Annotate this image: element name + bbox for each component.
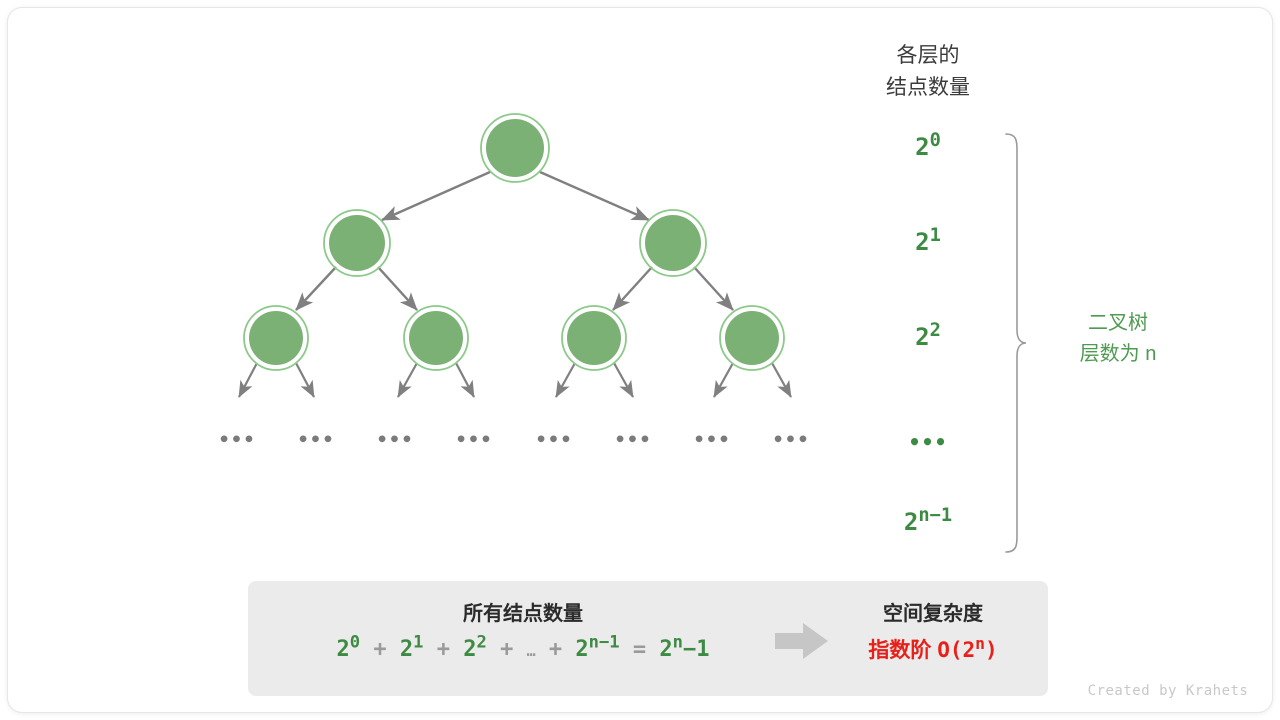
level-count-2-base: 2 — [915, 323, 929, 351]
column-heading: 各层的 结点数量 — [838, 40, 1018, 104]
side-note-line1: 二叉树 — [1028, 308, 1208, 339]
leaf-ellipsis: ••• — [444, 429, 504, 451]
level-count-1-exponent: 1 — [930, 225, 941, 246]
leaf-ellipsis: ••• — [682, 429, 742, 451]
level-count-2-exponent: 2 — [930, 320, 941, 341]
formula-result-tail: −1 — [683, 637, 710, 662]
leaf-ellipsis: ••• — [286, 429, 346, 451]
level-count-1-base: 2 — [915, 228, 929, 256]
formula-term-3-exponent: n−1 — [589, 633, 620, 653]
formula-term-1-base: 2 — [400, 637, 413, 662]
tree-node-l1-left — [324, 210, 390, 276]
formula-equals: = — [633, 637, 646, 662]
leaf-ellipsis: ••• — [603, 429, 663, 451]
tree-node-l2-3 — [562, 306, 626, 370]
flow-arrow-icon — [773, 620, 831, 662]
formula-term-0-base: 2 — [337, 637, 350, 662]
tree-dangling-edges — [239, 363, 791, 397]
leaf-ellipsis: ••• — [524, 429, 584, 451]
total-nodes-title: 所有结点数量 — [263, 599, 783, 629]
level-count-last-base: 2 — [904, 508, 918, 536]
space-complexity-title: 空间复杂度 — [838, 599, 1028, 629]
formula-term-1-exponent: 1 — [413, 633, 423, 653]
complexity-big-o: O(2 — [937, 638, 975, 662]
formula-term-3-base: 2 — [575, 637, 588, 662]
formula-result-exponent: n — [673, 633, 683, 653]
space-complexity-value: 指数阶 O(2n) — [838, 636, 1028, 665]
total-nodes-formula: 20 + 21 + 22 + … + 2n−1 = 2n−1 — [263, 636, 783, 665]
formula-operator-3: + — [500, 637, 513, 662]
formula-result-base: 2 — [659, 637, 672, 662]
complexity-exponent: n — [975, 634, 985, 653]
figure-card: ••• ••• ••• ••• ••• ••• ••• ••• 各层的 结点数量… — [8, 8, 1272, 712]
formula-operator-2: + — [437, 637, 450, 662]
credit-footer: Created by Krahets — [1078, 683, 1258, 699]
formula-operator-1: + — [373, 637, 386, 662]
column-heading-line2: 结点数量 — [838, 72, 1018, 104]
formula-term-2-base: 2 — [463, 637, 476, 662]
summary-panel-right: 空间复杂度 指数阶 O(2n) — [838, 599, 1028, 665]
formula-term-0-exponent: 0 — [350, 633, 360, 653]
level-count-ellipsis: ••• — [828, 430, 1028, 454]
tree-node-l2-4 — [720, 306, 784, 370]
formula-term-2-exponent: 2 — [476, 633, 486, 653]
column-heading-line1: 各层的 — [838, 40, 1018, 72]
level-count-1: 21 — [828, 228, 1028, 256]
tree-node-l2-2 — [404, 306, 468, 370]
level-count-last: 2n−1 — [828, 508, 1028, 536]
level-count-last-exponent: n−1 — [918, 505, 952, 526]
formula-operator-4: + — [549, 637, 562, 662]
complexity-order-label: 指数阶 — [868, 639, 931, 662]
level-count-0-exponent: 0 — [930, 130, 941, 151]
summary-panel-left: 所有结点数量 20 + 21 + 22 + … + 2n−1 = 2n−1 — [263, 599, 783, 665]
leaf-ellipsis: ••• — [365, 429, 425, 451]
leaf-ellipsis: ••• — [761, 429, 821, 451]
complexity-close-paren: ) — [985, 638, 998, 662]
tree-nodes — [244, 114, 784, 370]
side-note-line2: 层数为 n — [1028, 339, 1208, 370]
tree-node-root — [481, 114, 549, 182]
level-count-0-base: 2 — [915, 133, 929, 161]
tree-node-l1-right — [640, 210, 706, 276]
side-note: 二叉树 层数为 n — [1028, 308, 1208, 370]
formula-ellipsis: … — [527, 642, 536, 660]
leaf-ellipsis: ••• — [207, 429, 267, 451]
tree-node-l2-1 — [244, 306, 308, 370]
level-count-2: 22 — [828, 323, 1028, 351]
level-count-0: 20 — [828, 133, 1028, 161]
